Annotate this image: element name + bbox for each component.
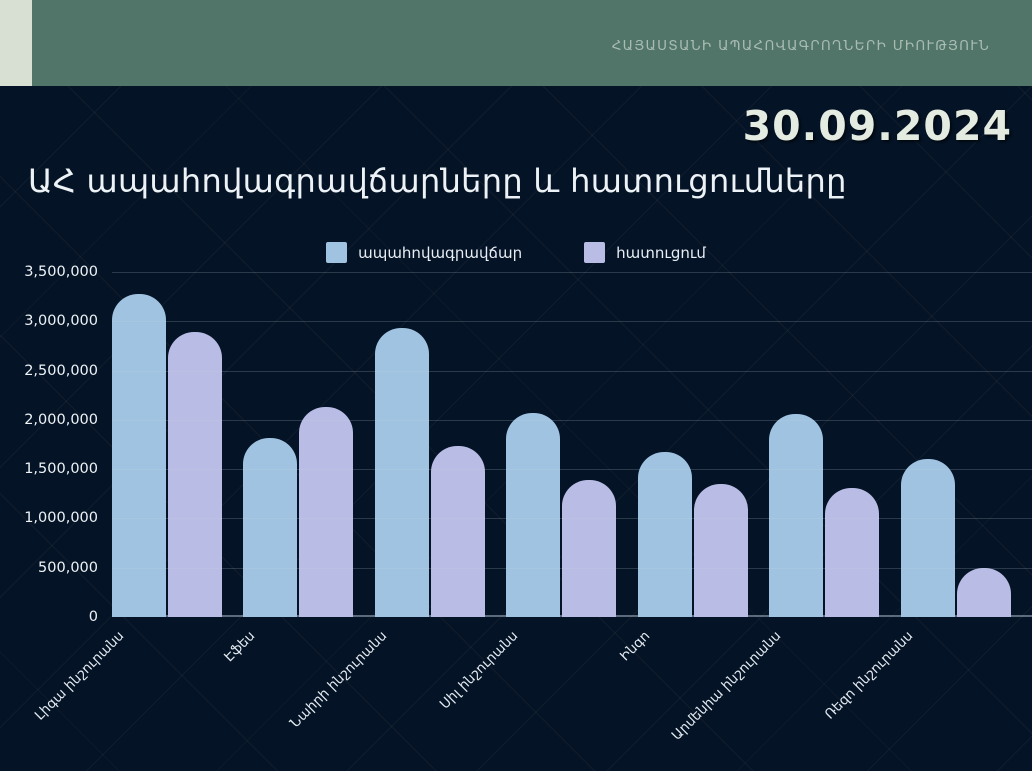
bar-premium[interactable] <box>506 413 560 617</box>
y-axis: 3,500,0003,000,0002,500,0002,000,0001,50… <box>0 272 106 617</box>
bar-payout[interactable] <box>431 446 485 618</box>
slide-page: ՀԱՅԱՍՏԱՆԻ ԱՊԱՀՈՎԱԳՐՈՂՆԵՐԻ ՄԻՈՒԹՅՈՒՆ 30.0… <box>0 0 1032 771</box>
x-axis-label-cell: Սիլ ինշուրանս <box>506 622 637 762</box>
x-axis-label-cell: Լիգա ինշուրանս <box>112 622 243 762</box>
bar-premium[interactable] <box>243 438 297 617</box>
bar-payout[interactable] <box>825 488 879 617</box>
y-axis-tick-label: 0 <box>89 609 98 625</box>
bar-premium[interactable] <box>901 459 955 617</box>
slide-body: 30.09.2024 ԱՀ ապահովագրավճարները և հատու… <box>0 86 1032 771</box>
y-axis-tick-label: 1,500,000 <box>24 461 98 477</box>
bar-payout[interactable] <box>299 407 353 617</box>
page-title: ԱՀ ապահովագրավճարները և հատուցումները <box>28 162 847 200</box>
bar-group <box>769 272 900 617</box>
bar-group <box>112 272 243 617</box>
slide-date: 30.09.2024 <box>743 102 1012 150</box>
legend-swatch-premium <box>326 242 347 263</box>
bar-groups <box>112 272 1032 617</box>
bar-chart: 3,500,0003,000,0002,500,0002,000,0001,50… <box>0 272 1032 712</box>
y-axis-tick-label: 2,000,000 <box>24 412 98 428</box>
bar-premium[interactable] <box>769 414 823 617</box>
gridline <box>112 568 1032 569</box>
organization-name: ՀԱՅԱՍՏԱՆԻ ԱՊԱՀՈՎԱԳՐՈՂՆԵՐԻ ՄԻՈՒԹՅՈՒՆ <box>612 38 990 54</box>
bar-payout[interactable] <box>562 480 616 617</box>
legend-swatch-payout <box>584 242 605 263</box>
bar-group <box>901 272 1032 617</box>
bar-group <box>375 272 506 617</box>
bar-payout[interactable] <box>168 332 222 617</box>
x-axis-label-cell: Նաիրի ինշուրանս <box>375 622 506 762</box>
legend-label-payout: հատուցում <box>616 244 706 262</box>
bar-group <box>638 272 769 617</box>
x-axis-label-cell: Ինգո <box>638 622 769 762</box>
bar-group <box>243 272 374 617</box>
x-axis-tick-label: Լիգա ինշուրանս <box>32 628 128 724</box>
chart-legend: ապահովագրավճար հատուցում <box>0 242 1032 263</box>
gridline <box>112 272 1032 273</box>
gridline <box>112 371 1032 372</box>
gridline <box>112 321 1032 322</box>
plot-area <box>112 272 1032 617</box>
gridline <box>112 420 1032 421</box>
legend-label-premium: ապահովագրավճար <box>358 244 522 262</box>
y-axis-tick-label: 3,000,000 <box>24 313 98 329</box>
y-axis-tick-label: 1,000,000 <box>24 510 98 526</box>
banner-teal-panel: ՀԱՅԱՍՏԱՆԻ ԱՊԱՀՈՎԱԳՐՈՂՆԵՐԻ ՄԻՈՒԹՅՈՒՆ <box>32 0 1032 86</box>
bar-premium[interactable] <box>638 452 692 617</box>
x-axis-label-cell: Արմենիա ինշուրանս <box>769 622 900 762</box>
y-axis-tick-label: 500,000 <box>38 560 98 576</box>
gridline <box>112 469 1032 470</box>
x-axis-labels: Լիգա ինշուրանսԷֆեսՆաիրի ինշուրանսՍիլ ինշ… <box>112 622 1032 762</box>
bar-payout[interactable] <box>694 484 748 617</box>
x-axis-label-cell: Էֆես <box>243 622 374 762</box>
bar-group <box>506 272 637 617</box>
x-axis-label-cell: Ռեզո ինշուրանս <box>901 622 1032 762</box>
y-axis-tick-label: 3,500,000 <box>24 264 98 280</box>
legend-item-premium[interactable]: ապահովագրավճար <box>326 242 522 263</box>
gridline <box>112 518 1032 519</box>
legend-item-payout[interactable]: հատուցում <box>584 242 706 263</box>
bar-payout[interactable] <box>957 568 1011 617</box>
y-axis-tick-label: 2,500,000 <box>24 363 98 379</box>
